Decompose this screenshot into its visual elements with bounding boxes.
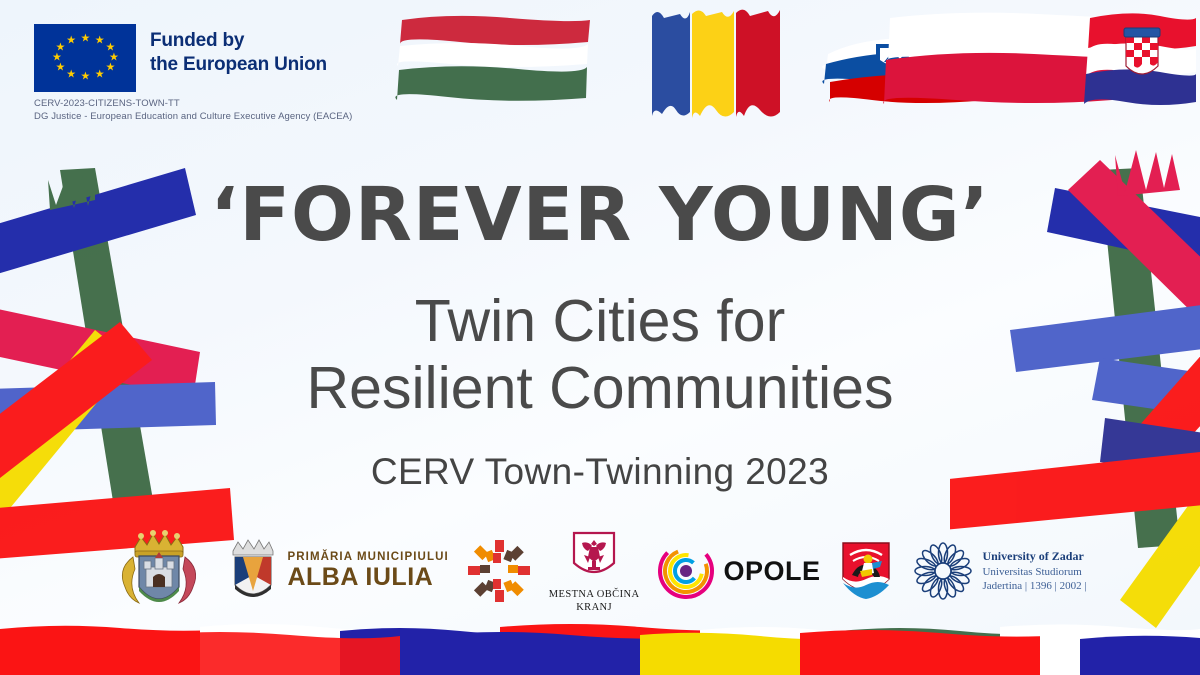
- kranj-caption-line1: MESTNA OBČINA: [549, 589, 640, 602]
- alba-iulia-crest-icon: [223, 535, 279, 607]
- szekesfehervar-coat-of-arms-icon: [113, 525, 205, 617]
- opole-spiral-icon: [657, 542, 715, 600]
- european-union-flag: ★ ★ ★ ★ ★ ★ ★ ★ ★ ★ ★ ★: [34, 24, 136, 92]
- university-of-zadar-rosette-icon: [912, 540, 974, 602]
- university-of-zadar-caption: University of Zadar Universitas Studioru…: [982, 549, 1086, 593]
- partner-logo-university-of-zadar: University of Zadar Universitas Studioru…: [912, 540, 1086, 602]
- alba-iulia-caption-main: ALBA IULIA: [287, 565, 448, 590]
- zadar-coat-of-arms-icon: [838, 539, 894, 603]
- partner-logo-row: PRIMĂRIA MUNICIPIULUI ALBA IULIA: [0, 525, 1200, 617]
- eu-funded-line1: Funded by: [150, 29, 327, 53]
- eu-funded-line2: the European Union: [150, 53, 327, 77]
- zadar-caption-line2: Universitas Studiorum: [982, 565, 1086, 579]
- opole-caption: OPOLE: [723, 556, 820, 587]
- zadar-caption-line3: Jadertina | 1396 | 2002 |: [982, 579, 1086, 593]
- alba-iulia-caption-top: PRIMĂRIA MUNICIPIULUI: [287, 552, 448, 564]
- kranj-shield-eagle-icon: [568, 527, 620, 585]
- eu-funded-text: Funded by the European Union: [150, 24, 327, 77]
- poland-flag-brush: [883, 13, 1118, 104]
- hungary-flag-brush: [395, 16, 590, 101]
- partner-logo-zadar-arms: [838, 539, 894, 603]
- page-subtitle: Twin Cities for Resilient Communities: [0, 288, 1200, 421]
- partner-logo-kranj-star: [467, 539, 531, 603]
- partner-logo-szekesfehervar: [113, 525, 205, 617]
- poster-canvas: ★ ★ ★ ★ ★ ★ ★ ★ ★ ★ ★ ★ Funded by the Eu…: [0, 0, 1200, 675]
- partner-logo-mestna-obcina-kranj: MESTNA OBČINA KRANJ: [549, 527, 640, 614]
- programme-code: CERV-2023-CITIZENS-TOWN-TT: [34, 98, 394, 111]
- programme-agency: DG Justice - European Education and Cult…: [34, 111, 394, 124]
- top-flag-row: [390, 4, 1200, 122]
- eu-funding-badge: ★ ★ ★ ★ ★ ★ ★ ★ ★ ★ ★ ★ Funded by the Eu…: [34, 24, 394, 124]
- poster-text-block: ‘FOREVER YOUNG’ Twin Cities for Resilien…: [0, 178, 1200, 493]
- page-title: ‘FOREVER YOUNG’: [0, 178, 1200, 252]
- kranj-caption: MESTNA OBČINA KRANJ: [549, 589, 640, 614]
- zadar-caption-line1: University of Zadar: [982, 549, 1086, 564]
- romania-flag-brush: [652, 10, 780, 118]
- partner-logo-alba-iulia: PRIMĂRIA MUNICIPIULUI ALBA IULIA: [223, 535, 448, 607]
- kranj-caption-line2: KRANJ: [549, 602, 640, 615]
- programme-reference: CERV-2023-CITIZENS-TOWN-TT DG Justice - …: [34, 98, 394, 124]
- partner-logo-opole: OPOLE: [657, 542, 820, 600]
- subtitle-line-1: Twin Cities for: [0, 288, 1200, 355]
- page-tagline: CERV Town-Twinning 2023: [0, 451, 1200, 493]
- croatia-flag-brush: [1084, 13, 1196, 105]
- subtitle-line-2: Resilient Communities: [0, 355, 1200, 422]
- kranj-star-emblem-icon: [467, 539, 531, 603]
